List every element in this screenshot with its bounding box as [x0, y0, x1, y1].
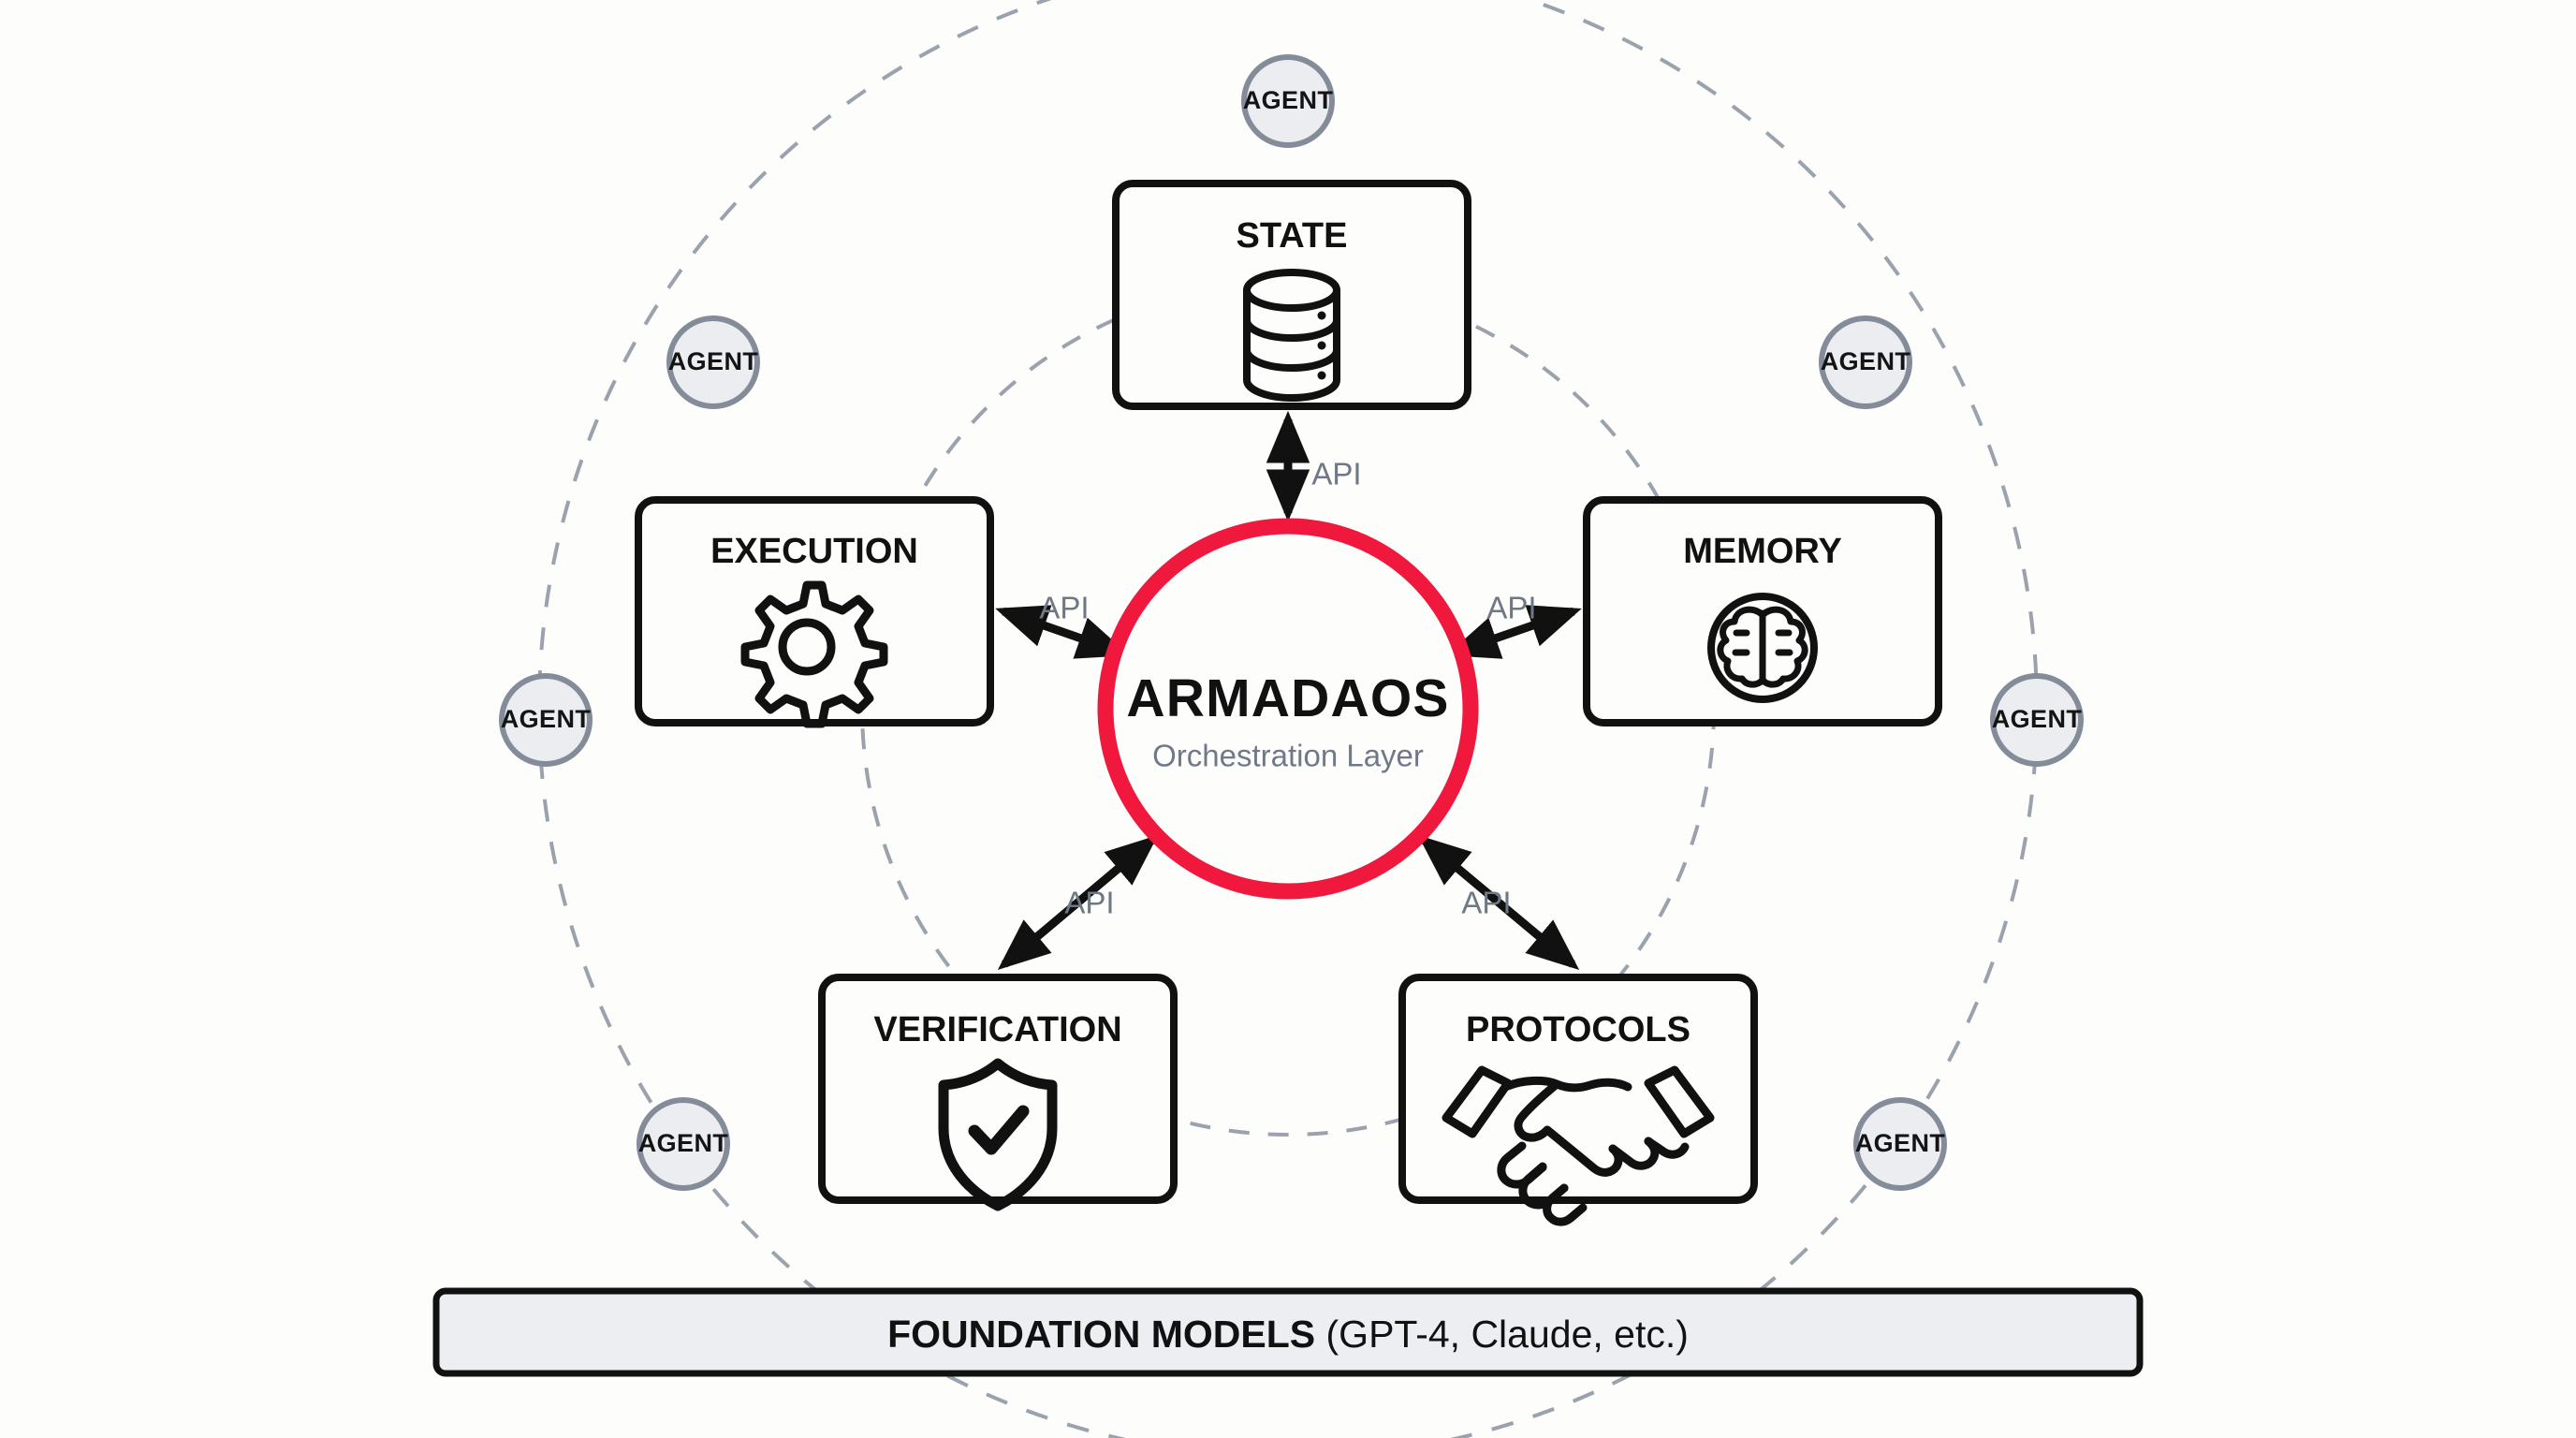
agent-right[interactable]: AGENT — [1992, 676, 2083, 764]
architecture-diagram: API API API API API STATE EXECUTION — [0, 0, 2576, 1438]
module-protocols-label: PROTOCOLS — [1466, 1010, 1690, 1049]
api-label-memory: API — [1486, 591, 1536, 625]
agent-left[interactable]: AGENT — [501, 676, 592, 764]
api-label-state: API — [1311, 457, 1361, 492]
foundation-models-bold: FOUNDATION MODELS — [887, 1313, 1315, 1356]
module-verification-label: VERIFICATION — [873, 1010, 1121, 1049]
agent-lower-left-label: AGENT — [638, 1129, 729, 1157]
core-subtitle: Orchestration Layer — [1152, 739, 1424, 773]
agent-lower-right-label: AGENT — [1855, 1129, 1946, 1157]
agent-top[interactable]: AGENT — [1243, 57, 1334, 145]
api-label-protocols: API — [1461, 886, 1511, 920]
module-memory[interactable]: MEMORY — [1587, 500, 1939, 723]
module-memory-label: MEMORY — [1683, 532, 1842, 571]
agent-upper-right[interactable]: AGENT — [1821, 318, 1911, 406]
api-label-verification: API — [1064, 886, 1114, 920]
module-state[interactable]: STATE — [1116, 183, 1468, 406]
api-label-execution: API — [1039, 591, 1089, 625]
agent-upper-left[interactable]: AGENT — [668, 318, 759, 406]
agent-lower-left[interactable]: AGENT — [638, 1100, 729, 1188]
core-orchestrator[interactable]: ARMADAOS Orchestration Layer — [1105, 526, 1471, 891]
module-execution[interactable]: EXECUTION — [638, 500, 990, 724]
foundation-models-text: FOUNDATION MODELS (GPT-4, Claude, etc.) — [887, 1313, 1689, 1356]
module-verification[interactable]: VERIFICATION — [822, 977, 1174, 1206]
core-title: ARMADAOS — [1126, 668, 1449, 728]
foundation-models-regular: (GPT-4, Claude, etc.) — [1315, 1313, 1689, 1356]
foundation-models-bar[interactable]: FOUNDATION MODELS (GPT-4, Claude, etc.) — [436, 1291, 2140, 1373]
module-protocols[interactable]: PROTOCOLS — [1402, 977, 1754, 1222]
module-execution-label: EXECUTION — [710, 532, 918, 571]
agent-lower-right[interactable]: AGENT — [1855, 1100, 1946, 1188]
agent-upper-right-label: AGENT — [1821, 347, 1911, 375]
module-state-label: STATE — [1237, 216, 1348, 256]
agent-left-label: AGENT — [501, 705, 592, 733]
agent-right-label: AGENT — [1992, 705, 2083, 733]
agent-top-label: AGENT — [1243, 86, 1334, 114]
agent-upper-left-label: AGENT — [668, 347, 759, 375]
